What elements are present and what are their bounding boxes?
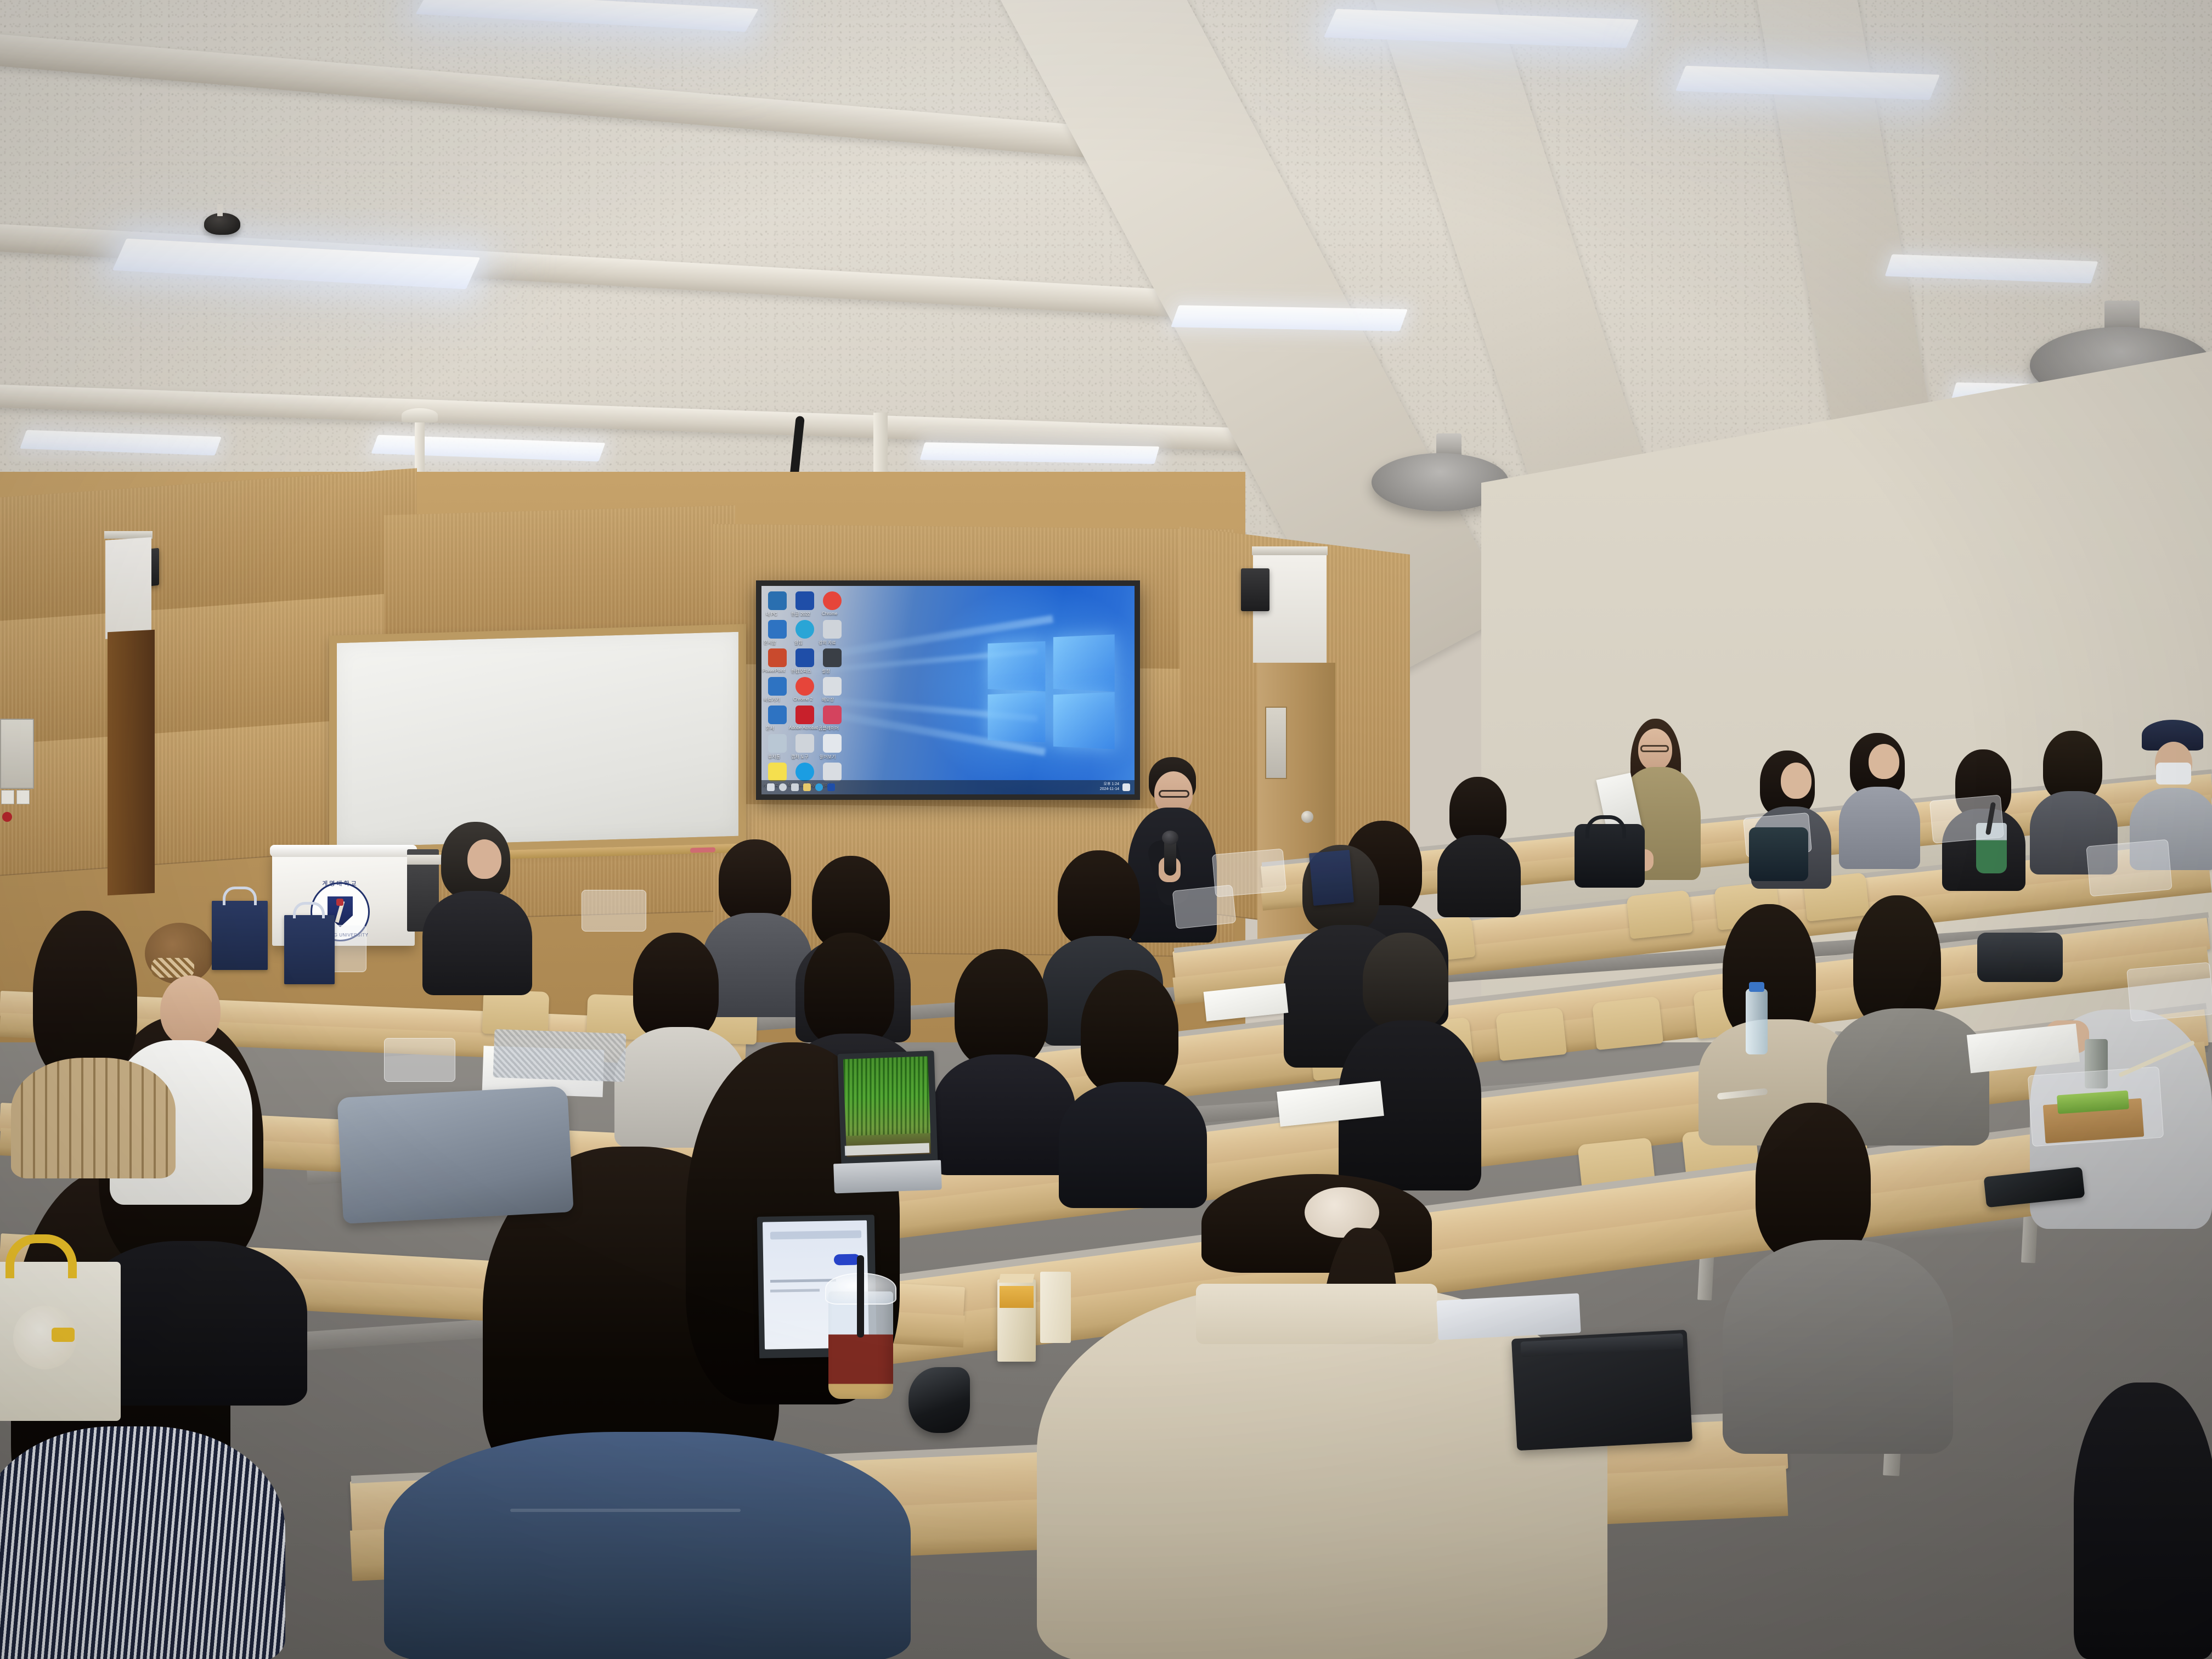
emblem-text-korean: 계명대학교 [311, 879, 370, 888]
mesh-pad [493, 1029, 627, 1082]
backpack-strap-icon [1585, 815, 1626, 838]
desktop-icon-label: 한컴오피스 [791, 668, 811, 674]
desktop-icon[interactable] [823, 706, 842, 724]
search-icon[interactable] [779, 783, 787, 791]
seated-attendee [933, 949, 1075, 1169]
attendee-torso [11, 1058, 176, 1178]
laptop-bamboo-stripes [844, 1056, 931, 1136]
attendee-hair [33, 911, 137, 1081]
chair[interactable] [482, 990, 550, 1036]
foreground-attendee [2074, 1383, 2212, 1659]
attendee-head [1781, 763, 1812, 799]
desktop-icon[interactable] [823, 648, 842, 667]
desktop-icon-label: 문서함 [764, 640, 776, 646]
desktop-icon-label: Chrome 2 [793, 697, 812, 702]
desktop-icon[interactable] [823, 677, 842, 696]
attendee-hair [1756, 1103, 1871, 1262]
desktop-icon[interactable] [795, 734, 814, 753]
edge-taskbar-icon[interactable] [815, 783, 823, 791]
security-camera-icon [204, 213, 240, 235]
attendee-head [1869, 744, 1899, 779]
door-vision-panel [1265, 707, 1287, 779]
tote-handle-icon [293, 902, 325, 918]
attendee-glasses-icon [1640, 745, 1669, 752]
start-button[interactable] [767, 783, 775, 791]
whiteboard [329, 624, 746, 855]
light-switch[interactable] [1, 790, 14, 804]
wall-speaker-right [1241, 568, 1269, 611]
ceiling-light-panel [1171, 305, 1408, 331]
ceiling-pole-cap [402, 408, 438, 422]
attendee-torso [1723, 1240, 1953, 1454]
fire-alarm-icon [2, 812, 12, 822]
door-left[interactable] [108, 630, 155, 896]
seated-attendee [1838, 733, 1920, 859]
desktop-icon[interactable] [768, 591, 787, 610]
chair[interactable] [1496, 1007, 1567, 1061]
university-tote-bag[interactable] [284, 915, 335, 984]
light-switch[interactable] [16, 790, 30, 804]
attendee-torso [422, 891, 532, 995]
foreground-attendee [11, 911, 176, 1174]
juice-carton[interactable] [1040, 1272, 1071, 1343]
desktop-icon[interactable] [795, 706, 814, 724]
desktop-icon-label: 내 PC [766, 611, 777, 617]
university-tote-bag[interactable] [1309, 850, 1354, 906]
electrical-panel [0, 719, 34, 789]
duck-beak-icon [52, 1328, 75, 1342]
attendee-torso [933, 1054, 1075, 1175]
straw-icon [857, 1255, 864, 1338]
water-bottle[interactable] [1746, 989, 1768, 1054]
boxed-lunch-wrap [2086, 839, 2172, 897]
desktop-icon[interactable] [795, 620, 814, 639]
desktop-icon[interactable] [795, 677, 814, 696]
attendee-hair [1058, 850, 1140, 947]
attendee-hair [1363, 933, 1448, 1029]
jacket-collar [1196, 1284, 1437, 1344]
attendee-torso [1437, 835, 1521, 917]
university-tote-bag[interactable] [212, 901, 268, 970]
desktop-icon-label: 휴지통 [768, 754, 780, 760]
attendee-hair [2043, 731, 2102, 801]
iced-drink-cup[interactable] [1976, 823, 2007, 873]
desktop-icon-label: 곰플레이어 [819, 725, 839, 731]
seated-attendee [1723, 1103, 1953, 1454]
file-explorer-icon[interactable] [803, 783, 811, 791]
boxed-lunch-wrap [2126, 962, 2212, 1022]
windows-logo-pane [988, 641, 1045, 691]
backpack[interactable] [1977, 933, 2063, 982]
boxed-lunch-wrap [1172, 884, 1237, 929]
roller-screen-right-housing [1252, 546, 1328, 555]
desktop-icon-label: 설정 [822, 668, 830, 674]
door-handle-icon[interactable] [1301, 811, 1313, 823]
laptop-keyboard[interactable] [833, 1160, 942, 1194]
face-mask-icon [2156, 763, 2191, 785]
edge-icon[interactable] [795, 763, 814, 781]
attendee-torso [0, 1426, 285, 1659]
projected-desktop: 내 PC 한글 2022 Chrome 문서함 알집 강의 자료 PowerPo… [761, 586, 1135, 794]
bottle-cap-icon [1749, 982, 1764, 992]
desktop-icon[interactable] [823, 620, 842, 639]
desktop-icon-label: Adobe Acrobat [789, 725, 817, 730]
boxed-lunch-wrap [384, 1038, 455, 1082]
coat-on-chair [337, 1086, 573, 1224]
desktop-icon-label: 바로가기 [764, 697, 780, 703]
desktop-icon[interactable] [768, 706, 787, 724]
desktop-icon-label: 알집 [794, 640, 803, 646]
backpack[interactable] [1749, 827, 1808, 881]
attendee-head [467, 839, 501, 879]
attendee-hair [955, 949, 1048, 1066]
desktop-icon[interactable] [768, 620, 787, 639]
taskbar[interactable]: 오후 1:24 2024-11-14 [761, 780, 1135, 794]
seated-attendee [1059, 970, 1207, 1200]
podium-top-lip [270, 845, 417, 857]
denim-seam [510, 1509, 741, 1512]
notebook[interactable] [1436, 1293, 1581, 1340]
tote-handle-icon [223, 887, 257, 905]
juice-carton-label [1000, 1286, 1034, 1308]
security-camera-stem [217, 204, 223, 216]
seated-attendee [1437, 777, 1520, 903]
doc-toolbar [770, 1231, 861, 1240]
windows-logo-pane [988, 692, 1045, 743]
desktop-icon-label: Chrome [822, 611, 837, 616]
attendee-hair [804, 933, 894, 1046]
projection-screen: 내 PC 한글 2022 Chrome 문서함 알집 강의 자료 PowerPo… [756, 580, 1140, 800]
desktop-icon-label: 메모장 [822, 697, 834, 703]
windows-logo-pane [1053, 635, 1114, 692]
desktop-icon[interactable] [823, 734, 842, 753]
seated-attendee [422, 822, 532, 986]
seated-attendee [1339, 933, 1481, 1185]
desktop-icon[interactable] [768, 648, 787, 667]
windows-logo-pane [1053, 692, 1114, 749]
doc-primary-button[interactable] [834, 1254, 860, 1266]
attendee-torso [1839, 787, 1920, 869]
recycle-bin-icon[interactable] [768, 734, 787, 753]
attendee-hair [719, 839, 791, 922]
desktop-icon-label: 읽어보기 [820, 754, 836, 760]
desktop-icon[interactable] [795, 648, 814, 667]
lecture-hall-photo: 내 PC 한글 2022 Chrome 문서함 알집 강의 자료 PowerPo… [0, 0, 2212, 1659]
desktop-icon[interactable] [795, 591, 814, 610]
desktop-icon-label: PowerPoint [763, 668, 785, 673]
task-view-icon[interactable] [791, 783, 799, 791]
desktop-icon[interactable] [823, 591, 842, 610]
attendee-hair [1081, 970, 1178, 1094]
iced-coffee-cup[interactable] [825, 1273, 896, 1399]
presenter-glasses-icon [1159, 790, 1189, 798]
desktop-icon[interactable] [768, 677, 787, 696]
desktop-icon-label: 문서 [766, 725, 774, 731]
desktop-icon[interactable] [823, 763, 842, 781]
desktop-icon-label: 한글 2022 [791, 611, 810, 617]
microphone-head-icon [1162, 831, 1178, 845]
desktop-icon-label: 캡처 도구 [791, 754, 809, 760]
hangul-taskbar-icon[interactable] [827, 783, 835, 791]
roller-screen-left-fabric [105, 537, 151, 639]
chair[interactable] [1592, 996, 1663, 1050]
kakaotalk-icon[interactable] [768, 763, 787, 781]
boxed-lunch-wrap [582, 890, 646, 932]
desktop-icon-label: 강의 자료 [819, 640, 836, 646]
juice-carton-top [998, 1274, 1034, 1283]
attendee-torso [2074, 1383, 2212, 1659]
vertical-mouse[interactable] [909, 1367, 970, 1433]
attendee-hair [633, 933, 719, 1040]
